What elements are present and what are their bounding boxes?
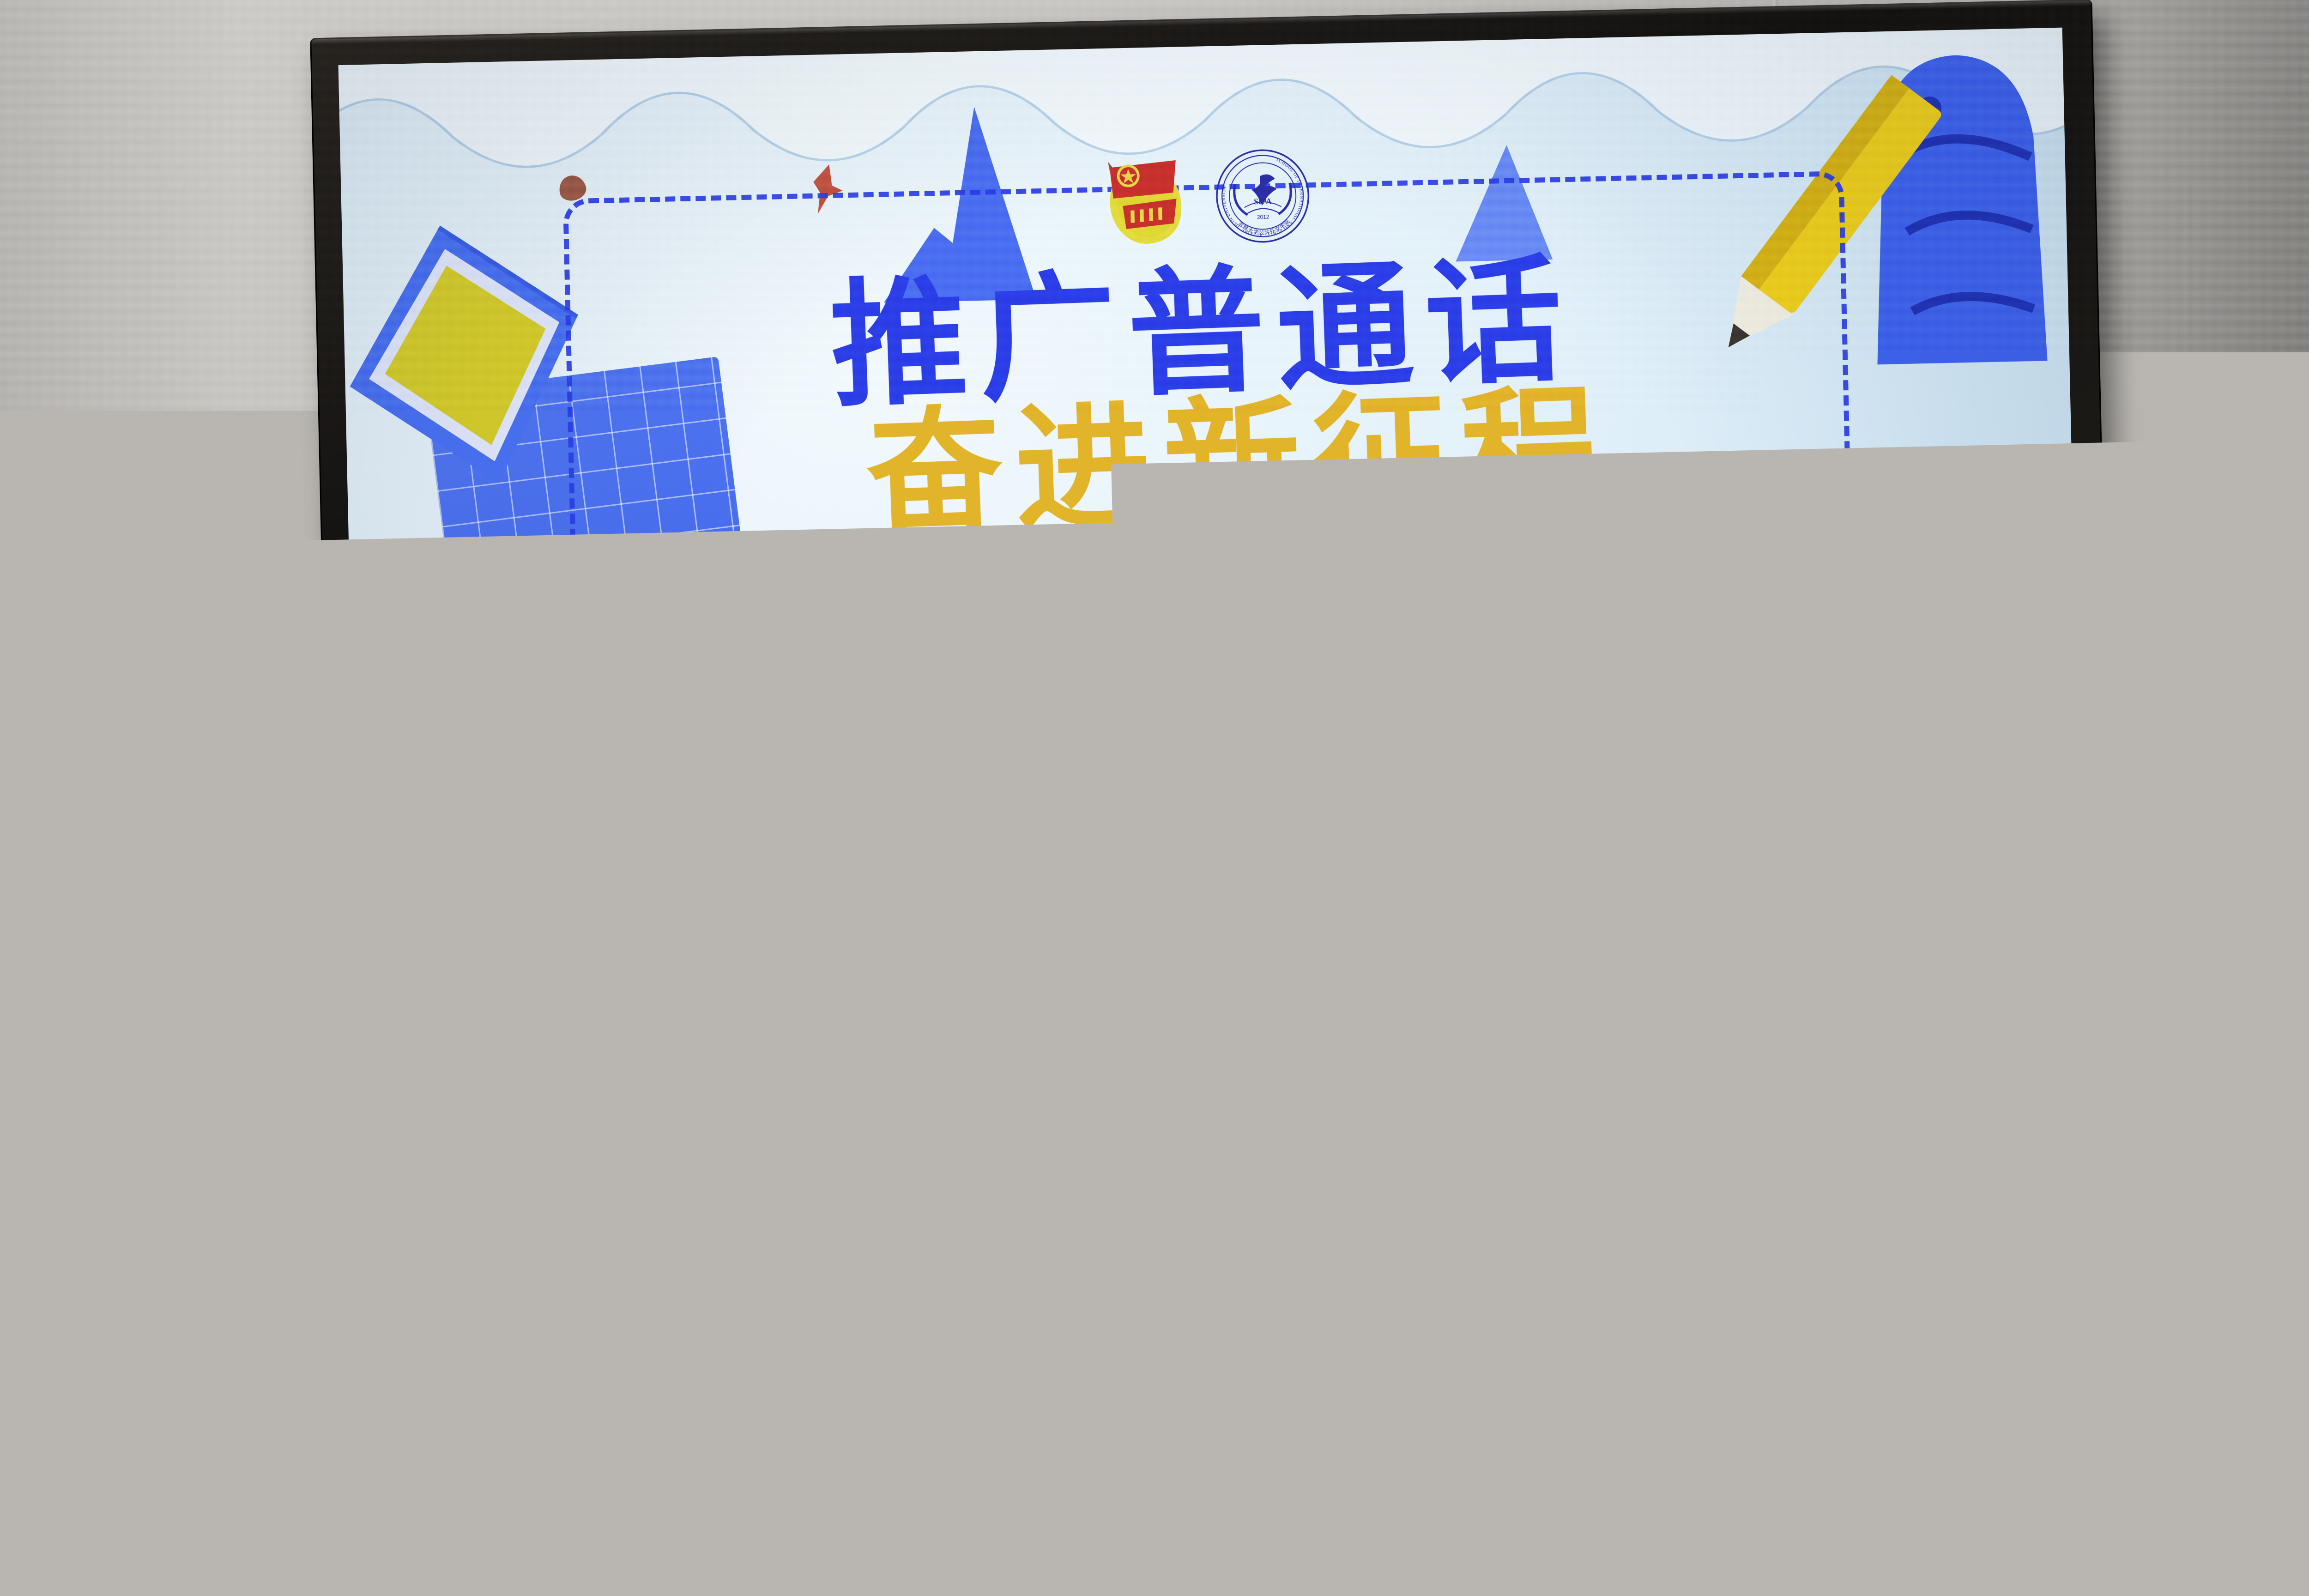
wall-shadow-left (0, 0, 240, 1596)
svg-text:吉林大学公共外交学院: 吉林大学公共外交学院 (1237, 218, 1291, 236)
photo-scene: SCHOOL OF INTERNATIONAL AND PUBLIC AFFAI… (0, 0, 2309, 1596)
slide-logo-row: SCHOOL OF INTERNATIONAL AND PUBLIC AFFAI… (1095, 146, 1312, 248)
desk-corner (0, 1463, 138, 1596)
svg-text:SIPA: SIPA (1254, 197, 1272, 206)
hanging-key-tag (416, 1324, 448, 1383)
communist-youth-league-emblem (1095, 149, 1190, 248)
display-stand-pole (880, 1210, 924, 1596)
display-brand-mark (1038, 1229, 1050, 1235)
zipper-pull (1536, 1132, 1556, 1159)
presenter (1307, 596, 1935, 1596)
svg-text:2012: 2012 (1257, 214, 1269, 221)
floor-shadow (0, 1489, 970, 1596)
jilin-university-sipa-seal: SCHOOL OF INTERNATIONAL AND PUBLIC AFFAI… (1214, 147, 1312, 245)
blue-square-decoration (490, 1082, 621, 1179)
ring-decoration (404, 545, 560, 701)
hoodie-zipper (1543, 1136, 1549, 1533)
nose (1524, 794, 1564, 864)
